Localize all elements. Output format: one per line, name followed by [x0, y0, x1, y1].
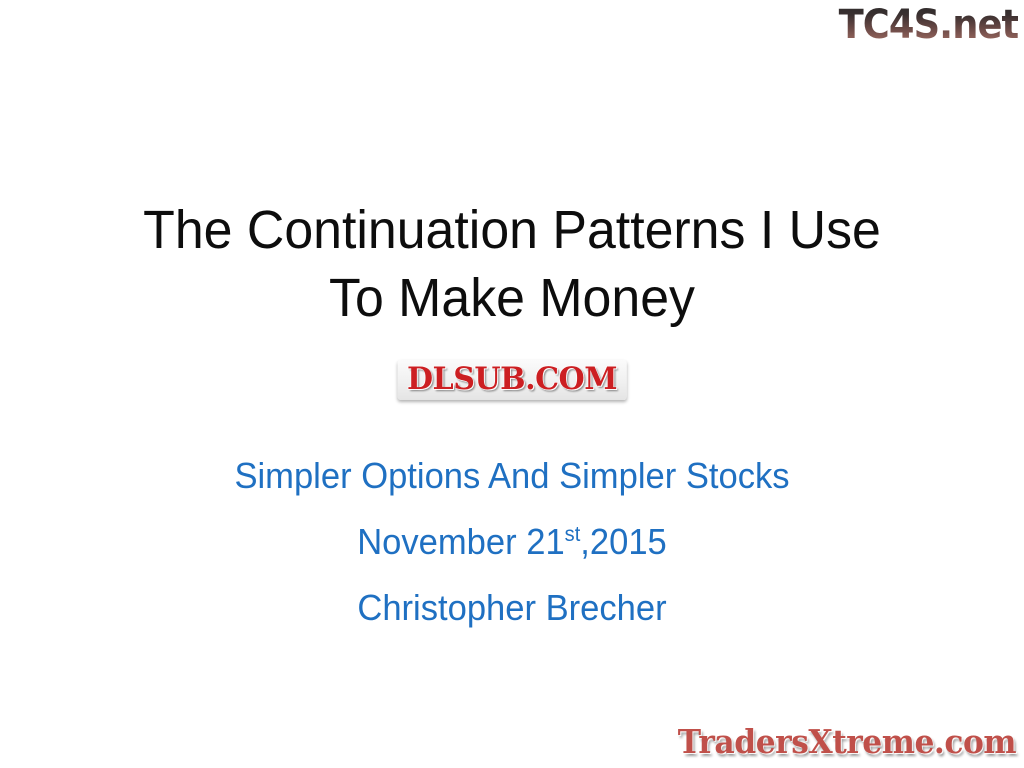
- page-title: The Continuation Patterns I Use To Make …: [0, 196, 1024, 332]
- subtitle-organization: Simpler Options And Simpler Stocks: [20, 443, 1003, 509]
- subtitle-date-year: ,2015: [580, 521, 666, 562]
- subtitle-presenter: Christopher Brecher: [20, 575, 1003, 641]
- presentation-title-slide: TC4S.net The Continuation Patterns I Use…: [0, 0, 1024, 768]
- tc4s-watermark: TC4S.net: [838, 2, 1018, 48]
- title-line-1: The Continuation Patterns I Use: [20, 196, 1003, 264]
- subtitle-block: Simpler Options And Simpler Stocks Novem…: [0, 443, 1024, 641]
- subtitle-date-monthday: November 21: [357, 521, 564, 562]
- title-line-2: To Make Money: [20, 264, 1003, 332]
- subtitle-date: November 21st,2015: [20, 509, 1003, 575]
- dlsub-watermark: DLSUB.COM: [398, 360, 627, 400]
- dlsub-watermark-label: DLSUB.COM: [407, 362, 617, 396]
- subtitle-date-ordinal: st: [565, 523, 581, 546]
- tradersxtreme-watermark: TradersXtreme.com: [678, 722, 1016, 762]
